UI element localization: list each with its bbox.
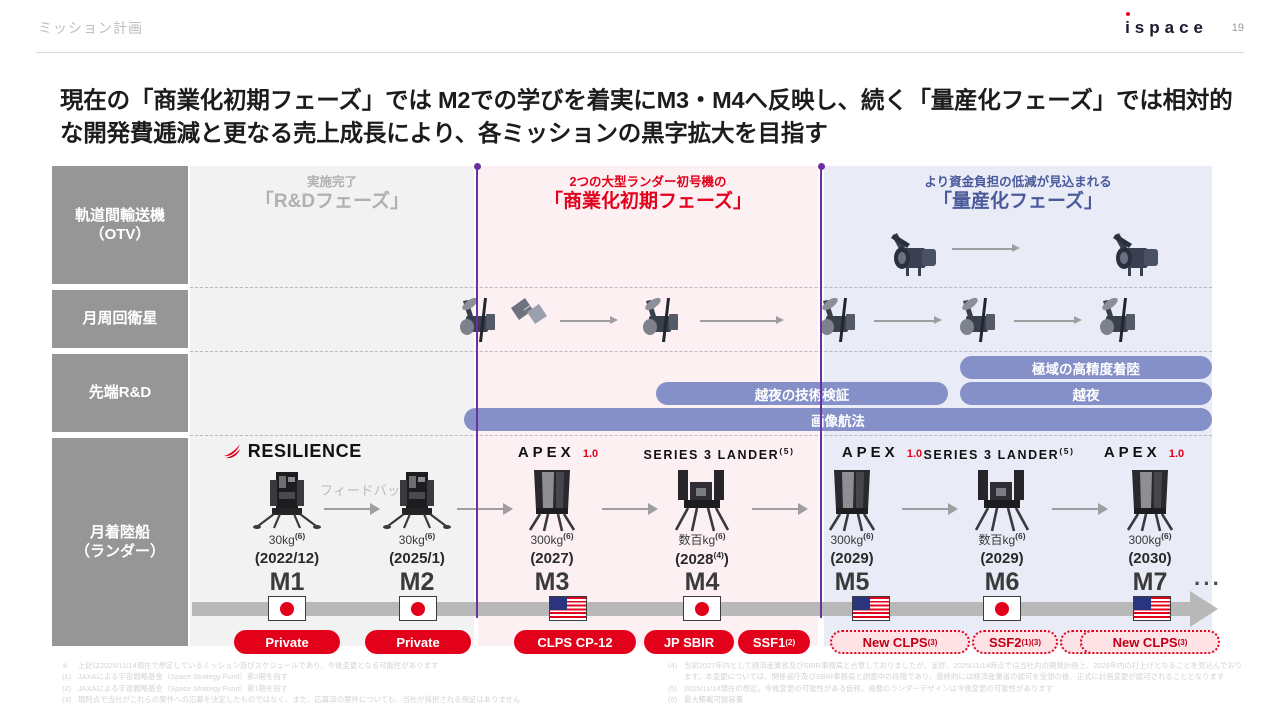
lander-craft-m1-icon xyxy=(250,468,324,535)
mission-code-m3: M3 xyxy=(482,568,622,597)
otv-spacecraft-2-icon xyxy=(1104,218,1164,285)
lander-arrow-m3-m4-head xyxy=(648,503,658,515)
mission-year-m1: (2022/12) xyxy=(217,550,357,567)
orbiter-satellite-2-icon xyxy=(637,294,693,351)
lander-craft-m2-icon xyxy=(380,468,454,535)
footnote-left-3: (3)現時点で当社がこれらの案件への応募を決定したものではなく、また、応募済の案… xyxy=(62,694,652,705)
badge-m2-private[interactable]: Private xyxy=(365,630,471,654)
timeline-arrow-head xyxy=(1190,591,1218,627)
phase-rd-subtitle: 実施完了 xyxy=(190,174,474,190)
phase-mass-subtitle: より資金負担の低減が見込まれる xyxy=(824,174,1212,190)
lander-logo-m1-text: RESILIENCE xyxy=(248,441,362,461)
orbiter-arrow-4-line xyxy=(1014,320,1076,322)
lander-logo-m1-resilience: RESILIENCE xyxy=(192,441,392,462)
lander-arrow-m3-m4-line xyxy=(602,508,650,510)
mission-roadmap-chart: 実施完了 「R&Dフェーズ」 2つの大型ランダー初号機の 「商業化初期フェーズ」… xyxy=(52,166,1212,646)
lander-arrow-m2-m3-line xyxy=(457,508,505,510)
otv-arrow-1-line xyxy=(952,248,1014,250)
phase-divider-commercial-mass xyxy=(820,166,822,618)
row-divider-1 xyxy=(190,287,1212,288)
lander-arrow-m6-m7-head xyxy=(1098,503,1108,515)
lander-arrow-m1-m2-line xyxy=(324,508,372,510)
footnote-left-1: (1)JAXAによる宇宙戦略基金（Space Strategy Fund）第2期… xyxy=(62,671,652,682)
flag-m5-us-icon xyxy=(852,596,890,621)
rnd-bar-polar-landing: 極域の高精度着陸 xyxy=(960,356,1212,379)
lander-logo-m7-apex: APEX 1.0 xyxy=(1064,444,1224,461)
orbiter-satellite-4-icon xyxy=(954,294,1010,351)
lander-logo-m7-text: APEX xyxy=(1104,444,1161,461)
mission-year-m5: (2029) xyxy=(782,550,922,567)
rnd-bar-image-navigation: 画像航法 xyxy=(464,408,1212,431)
orbiter-arrow-4-head xyxy=(1074,316,1082,324)
footnote-right-0: (4)当初2027年内として経済産業省及びSBIR事務局と合意しておりましたが、… xyxy=(668,660,1248,683)
mission-kg-m2: 30kg(6) xyxy=(347,531,487,547)
mission-kg-m4: 数百kg(6) xyxy=(632,531,772,548)
badge-m6-ssf2[interactable]: SSF2(1)(3) xyxy=(972,630,1058,654)
mission-year-m3: (2027) xyxy=(482,550,622,567)
lander-logo-m3-apex: APEX 1.0 xyxy=(478,444,638,461)
mission-code-m5: M5 xyxy=(782,568,922,597)
phase-commercial-subtitle: 2つの大型ランダー初号機の xyxy=(478,174,818,190)
lander-logo-m6-text: SERIES 3 LANDER xyxy=(923,448,1059,462)
mission-year-m2: (2025/1) xyxy=(347,550,487,567)
badge-m1-private[interactable]: Private xyxy=(234,630,340,654)
lander-craft-m6-icon xyxy=(960,464,1044,537)
mission-kg-m3: 300kg(6) xyxy=(482,531,622,547)
lander-arrow-m1-m2-head xyxy=(370,503,380,515)
flag-m6-jp-icon xyxy=(983,596,1021,621)
phase-divider-rd-commercial xyxy=(476,166,478,618)
orbiter-arrow-1-line xyxy=(560,320,612,322)
row-label-lander-line1: 月着陸船 xyxy=(90,524,150,541)
lander-craft-m5-icon xyxy=(812,464,892,537)
lander-logo-m3-version: 1.0 xyxy=(583,448,598,460)
phase-heading-mass: より資金負担の低減が見込まれる 「量産化フェーズ」 xyxy=(824,174,1212,214)
footnote-left-2: (2)JAXAによる宇宙戦略基金（Space Strategy Fund）第1期… xyxy=(62,683,652,694)
slide-title: 現在の「商業化初期フェーズ」では M2での学びを着実にM3・M4へ反映し、続く「… xyxy=(60,84,1240,151)
rnd-bar-overnight: 越夜 xyxy=(960,382,1212,405)
logo-dot-icon xyxy=(1126,12,1130,16)
lander-arrow-m5-m6-head xyxy=(948,503,958,515)
flag-m7-us-icon xyxy=(1133,596,1171,621)
row-label-lander-line2: （ランダー） xyxy=(75,543,165,560)
mission-kg-m6: 数百kg(6) xyxy=(932,531,1072,548)
orbiter-arrow-2-head xyxy=(776,316,784,324)
badge-m3-clps[interactable]: CLPS CP-12 xyxy=(514,630,636,654)
page-header: ミッション計画 ispace 19 xyxy=(0,0,1280,56)
ispace-logo: ispace xyxy=(1125,18,1208,38)
flag-m2-jp-icon xyxy=(399,596,437,621)
mission-kg-m1: 30kg(6) xyxy=(217,531,357,547)
lander-logo-m3-text: APEX xyxy=(518,444,575,461)
row-label-otv-line2: （OTV） xyxy=(90,226,151,243)
lander-logo-m7-version: 1.0 xyxy=(1169,448,1184,460)
mission-kg-m7: 300kg(6) xyxy=(1080,531,1220,547)
row-label-lander: 月着陸船（ランダー） xyxy=(52,438,188,646)
badge-m4-ssf1[interactable]: SSF1(2) xyxy=(738,630,810,654)
badge-m5-newclps[interactable]: New CLPS(3) xyxy=(830,630,970,654)
header-section-title: ミッション計画 xyxy=(38,18,143,38)
footnote-right-2: (6)最大積載可能容量 xyxy=(668,694,1248,705)
row-label-orbiter: 月周回衛星 xyxy=(52,290,188,348)
mission-code-m1: M1 xyxy=(217,568,357,597)
lander-craft-m3-icon xyxy=(512,464,592,537)
footnote-left-0: ※上記は2025/11/14現在で想定しているミッション及びスケジュールであり、… xyxy=(62,660,652,671)
row-label-otv: 軌道間輸送機（OTV） xyxy=(52,166,188,284)
logo-text: ispace xyxy=(1125,18,1208,37)
flag-m4-jp-icon xyxy=(683,596,721,621)
mission-year-m6: (2029) xyxy=(932,550,1072,567)
orbiter-arrow-2-line xyxy=(700,320,778,322)
mission-code-m4: M4 xyxy=(632,568,772,597)
footnotes-left: ※上記は2025/11/14現在で想定しているミッション及びスケジュールであり、… xyxy=(62,660,652,706)
mission-kg-m5: 300kg(6) xyxy=(782,531,922,547)
phase-heading-commercial: 2つの大型ランダー初号機の 「商業化初期フェーズ」 xyxy=(478,174,818,214)
orbiter-arrow-1-head xyxy=(610,316,618,324)
lander-arrow-m4-m5-head xyxy=(798,503,808,515)
orbiter-satellite-5-icon xyxy=(1094,294,1150,351)
orbiter-satellite-3-icon xyxy=(814,294,870,351)
phase-mass-title: 「量産化フェーズ」 xyxy=(824,190,1212,214)
badge-m7-newclps[interactable]: New CLPS(3) xyxy=(1080,630,1220,654)
orbiter-satellite-panel-icon xyxy=(507,296,551,337)
header-divider xyxy=(36,52,1244,53)
lander-craft-m4-icon xyxy=(660,464,744,537)
phase-heading-rd: 実施完了 「R&Dフェーズ」 xyxy=(190,174,474,214)
orbiter-arrow-3-head xyxy=(934,316,942,324)
rnd-bar-overnight-validation: 越夜の技術検証 xyxy=(656,382,948,405)
lander-logo-m5-text: APEX xyxy=(842,444,899,461)
row-divider-3 xyxy=(190,435,1212,436)
row-label-otv-line1: 軌道間輸送機 xyxy=(75,207,165,224)
flag-m3-us-icon xyxy=(549,596,587,621)
otv-arrow-1-head xyxy=(1012,244,1020,252)
mission-code-m2: M2 xyxy=(347,568,487,597)
otv-spacecraft-1-icon xyxy=(882,218,942,285)
resilience-mark-icon xyxy=(222,443,242,459)
page-number: 19 xyxy=(1232,22,1244,34)
orbiter-satellite-1-icon xyxy=(454,294,510,351)
orbiter-arrow-3-line xyxy=(874,320,936,322)
row-divider-2 xyxy=(190,351,1212,352)
phase-divider-dot-1-icon xyxy=(474,163,481,170)
phase-commercial-title: 「商業化初期フェーズ」 xyxy=(478,190,818,214)
footnote-right-1: (5)2025/11/14現在の想定。今後変更の可能性がある仮称。画像のランダー… xyxy=(668,683,1248,694)
lander-arrow-m6-m7-line xyxy=(1052,508,1100,510)
mission-code-m6: M6 xyxy=(932,568,1072,597)
phase-divider-dot-2-icon xyxy=(818,163,825,170)
mission-year-m4: (2028(4)) xyxy=(632,550,772,568)
row-label-rnd: 先端R&D xyxy=(52,354,188,432)
flag-m1-jp-icon xyxy=(268,596,306,621)
lander-arrow-m5-m6-line xyxy=(902,508,950,510)
lander-craft-m7-icon xyxy=(1110,464,1190,537)
phase-rd-title: 「R&Dフェーズ」 xyxy=(190,190,474,214)
badge-m4-jpsbir[interactable]: JP SBIR xyxy=(644,630,734,654)
lander-logo-m4-text: SERIES 3 LANDER xyxy=(643,448,779,462)
footnotes-right: (4)当初2027年内として経済産業省及びSBIR事務局と合意しておりましたが、… xyxy=(668,660,1248,706)
lander-logo-m4-series3: SERIES 3 LANDER(5) xyxy=(624,446,814,462)
lander-logo-m4-sup: (5) xyxy=(779,446,794,456)
lander-arrow-m4-m5-line xyxy=(752,508,800,510)
mission-year-m7: (2030) xyxy=(1080,550,1220,567)
